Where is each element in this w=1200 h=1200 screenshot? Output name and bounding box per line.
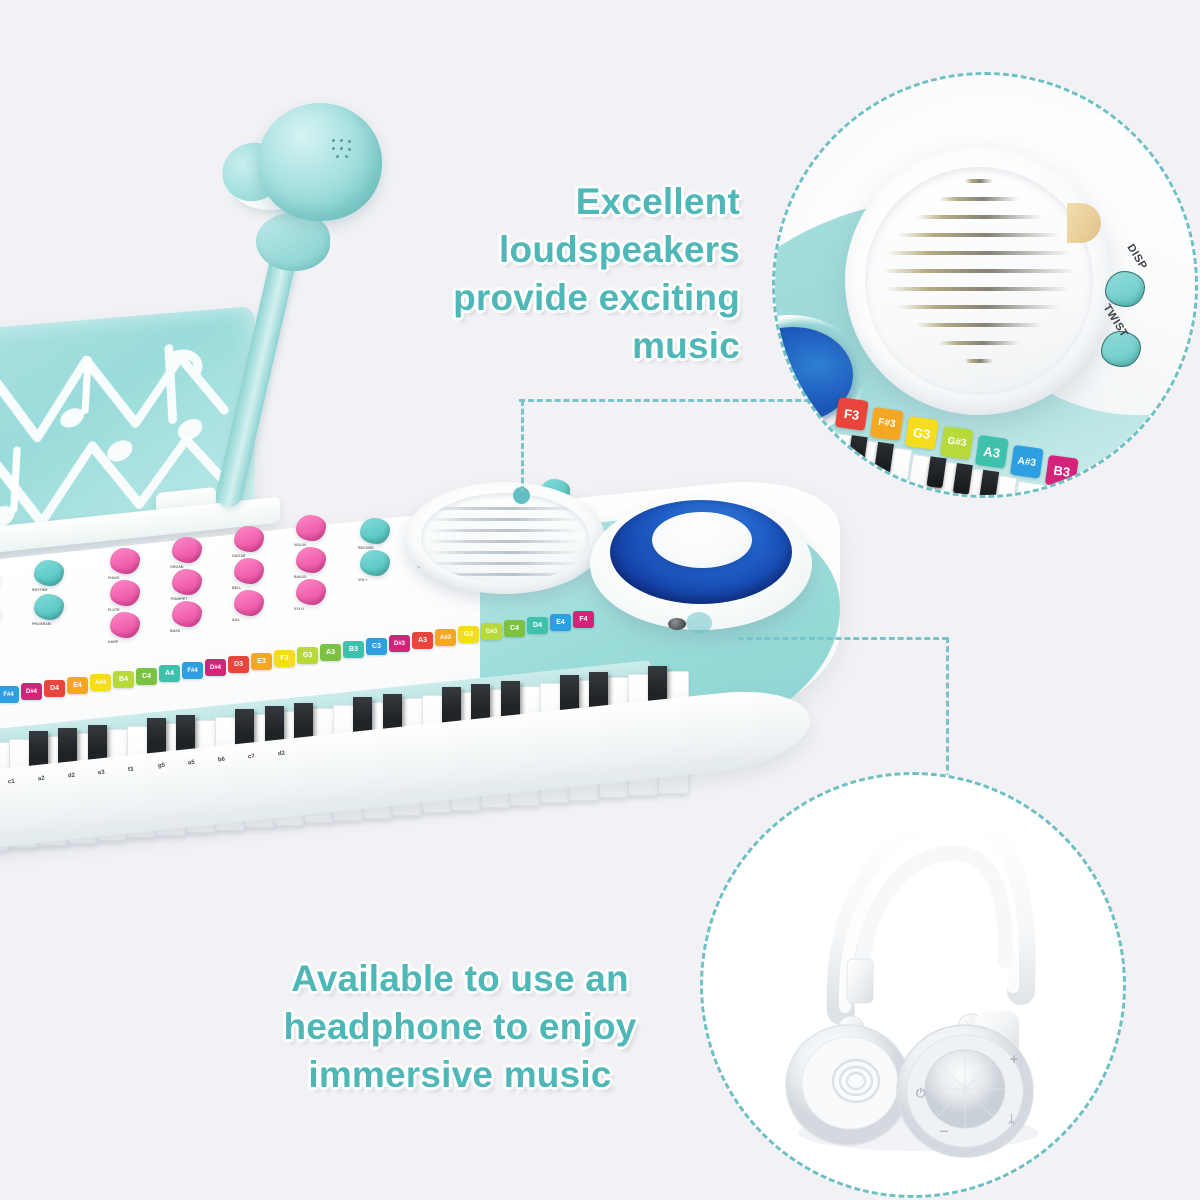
closeup-note-chip: F#3 — [870, 407, 904, 441]
grille-slat — [898, 305, 1060, 309]
control-button[interactable] — [234, 558, 264, 584]
key-edge-label: b6 — [218, 757, 226, 764]
closeup-note-chip: F3 — [835, 397, 869, 431]
callout-line-speaker-vertical — [521, 400, 524, 492]
key-edge-label: a5 — [188, 760, 195, 767]
control-button-label: PIANO — [108, 575, 119, 580]
control-button-label: ORGAN — [170, 564, 183, 569]
power-icon[interactable]: ⏻ — [916, 1086, 926, 1100]
grille-slat — [883, 269, 1075, 273]
inset-loudspeaker-closeup: DISP TWIST F3F#3G3G#3A3A#3B3 — [772, 72, 1198, 498]
control-button-label: RHYTHM — [32, 587, 47, 592]
bluetooth-icon[interactable]: ᛦ — [1008, 1112, 1015, 1126]
key-edge-label: a2 — [38, 775, 45, 782]
control-button[interactable] — [34, 594, 64, 620]
control-button-label: BELL — [232, 585, 241, 590]
key-edge-label: d2 — [278, 751, 286, 758]
note-chip: C4 — [504, 620, 525, 637]
closeup-note-chip: A#3 — [1010, 445, 1044, 479]
mic-joint — [256, 213, 330, 271]
grille-slat — [887, 287, 1071, 291]
control-button-label: FLUTE — [108, 607, 120, 612]
control-button[interactable] — [234, 590, 264, 616]
closeup-note-chip: G3 — [905, 416, 939, 450]
callout-line-headphone-horizontal — [738, 637, 948, 640]
control-button[interactable] — [34, 560, 64, 586]
control-button[interactable] — [172, 569, 202, 595]
grille-slat — [939, 341, 1019, 345]
key-edge-label: c7 — [248, 754, 255, 761]
control-button-label: VOL+ — [358, 577, 368, 582]
control-button-label: BASS — [170, 628, 180, 633]
closeup-note-chip: B3 — [1045, 454, 1079, 488]
callout-text-loudspeakers: Excellent loudspeakers provide exciting … — [360, 178, 740, 370]
control-button[interactable] — [172, 537, 202, 563]
control-button-label: PROGRAM — [32, 621, 51, 626]
key-edge-label: c1 — [8, 779, 15, 786]
key-edge-label: d2 — [68, 772, 76, 779]
closeup-speaker-grille — [845, 147, 1113, 415]
grille-slat — [887, 251, 1071, 255]
closeup-grille-slats — [865, 167, 1093, 395]
control-button[interactable] — [110, 548, 140, 574]
note-chip: A3 — [412, 632, 433, 649]
note-chip: D#3 — [389, 635, 410, 652]
key-edge-label: f3 — [128, 766, 134, 773]
closeup-note-chip: A3 — [975, 435, 1009, 469]
control-button[interactable] — [234, 526, 264, 552]
note-chip: E4 — [550, 614, 571, 631]
grille-slat — [939, 197, 1019, 201]
note-chip: G3 — [458, 626, 479, 643]
control-button-label: GUITAR — [232, 553, 246, 558]
control-button[interactable] — [360, 550, 390, 576]
jack-highlight — [686, 612, 712, 634]
key-edge-label: e3 — [98, 769, 105, 776]
control-button[interactable] — [296, 547, 326, 573]
infographic-canvas: DEMORHYTHMTONEPROGRAMPIANOORGANGUITARVIO… — [0, 0, 1200, 1200]
callout-text-headphone: Available to use an headphone to enjoy i… — [250, 955, 670, 1099]
grille-slat — [916, 215, 1042, 219]
note-chip: A#3 — [435, 629, 456, 646]
mic-grille-dots — [332, 139, 354, 161]
mic-gooseneck — [214, 251, 298, 509]
note-chip: D4 — [527, 617, 548, 634]
grille-slat — [965, 359, 992, 363]
volume-up-icon[interactable]: + — [1009, 1052, 1019, 1066]
control-button-label: VIOLIN — [294, 542, 306, 547]
closeup-note-chip: G#3 — [940, 426, 974, 460]
control-button-label: BANJO — [294, 574, 307, 579]
key-edge-label: g5 — [158, 763, 166, 770]
grille-slat — [916, 323, 1042, 327]
headphone-jack-port[interactable] — [668, 618, 686, 630]
grille-slat — [898, 233, 1060, 237]
inset-headphone-closeup: + ⏻ ᛦ − — [700, 772, 1126, 1198]
note-chip: G#3 — [481, 623, 502, 640]
grille-slat — [965, 179, 992, 183]
volume-down-icon[interactable]: − — [939, 1124, 949, 1138]
closeup-display-button[interactable] — [1105, 271, 1145, 307]
control-button[interactable] — [110, 580, 140, 606]
speaker-grille-slats — [421, 493, 589, 583]
control-button-label: SAX — [232, 617, 239, 622]
control-button-label: RECORD — [358, 545, 374, 550]
note-chip: F4 — [573, 611, 594, 628]
callout-line-speaker-horizontal — [519, 399, 819, 402]
control-button[interactable] — [172, 601, 202, 627]
drum-pad-center[interactable] — [652, 512, 752, 568]
control-button-label: XYLO — [294, 606, 304, 611]
control-button[interactable] — [110, 612, 140, 638]
control-button-label: HARP — [108, 639, 118, 644]
keyboard-speaker-grille — [405, 482, 605, 594]
headphone-illustration: + ⏻ ᛦ − — [703, 775, 1126, 1198]
control-button[interactable] — [296, 579, 326, 605]
